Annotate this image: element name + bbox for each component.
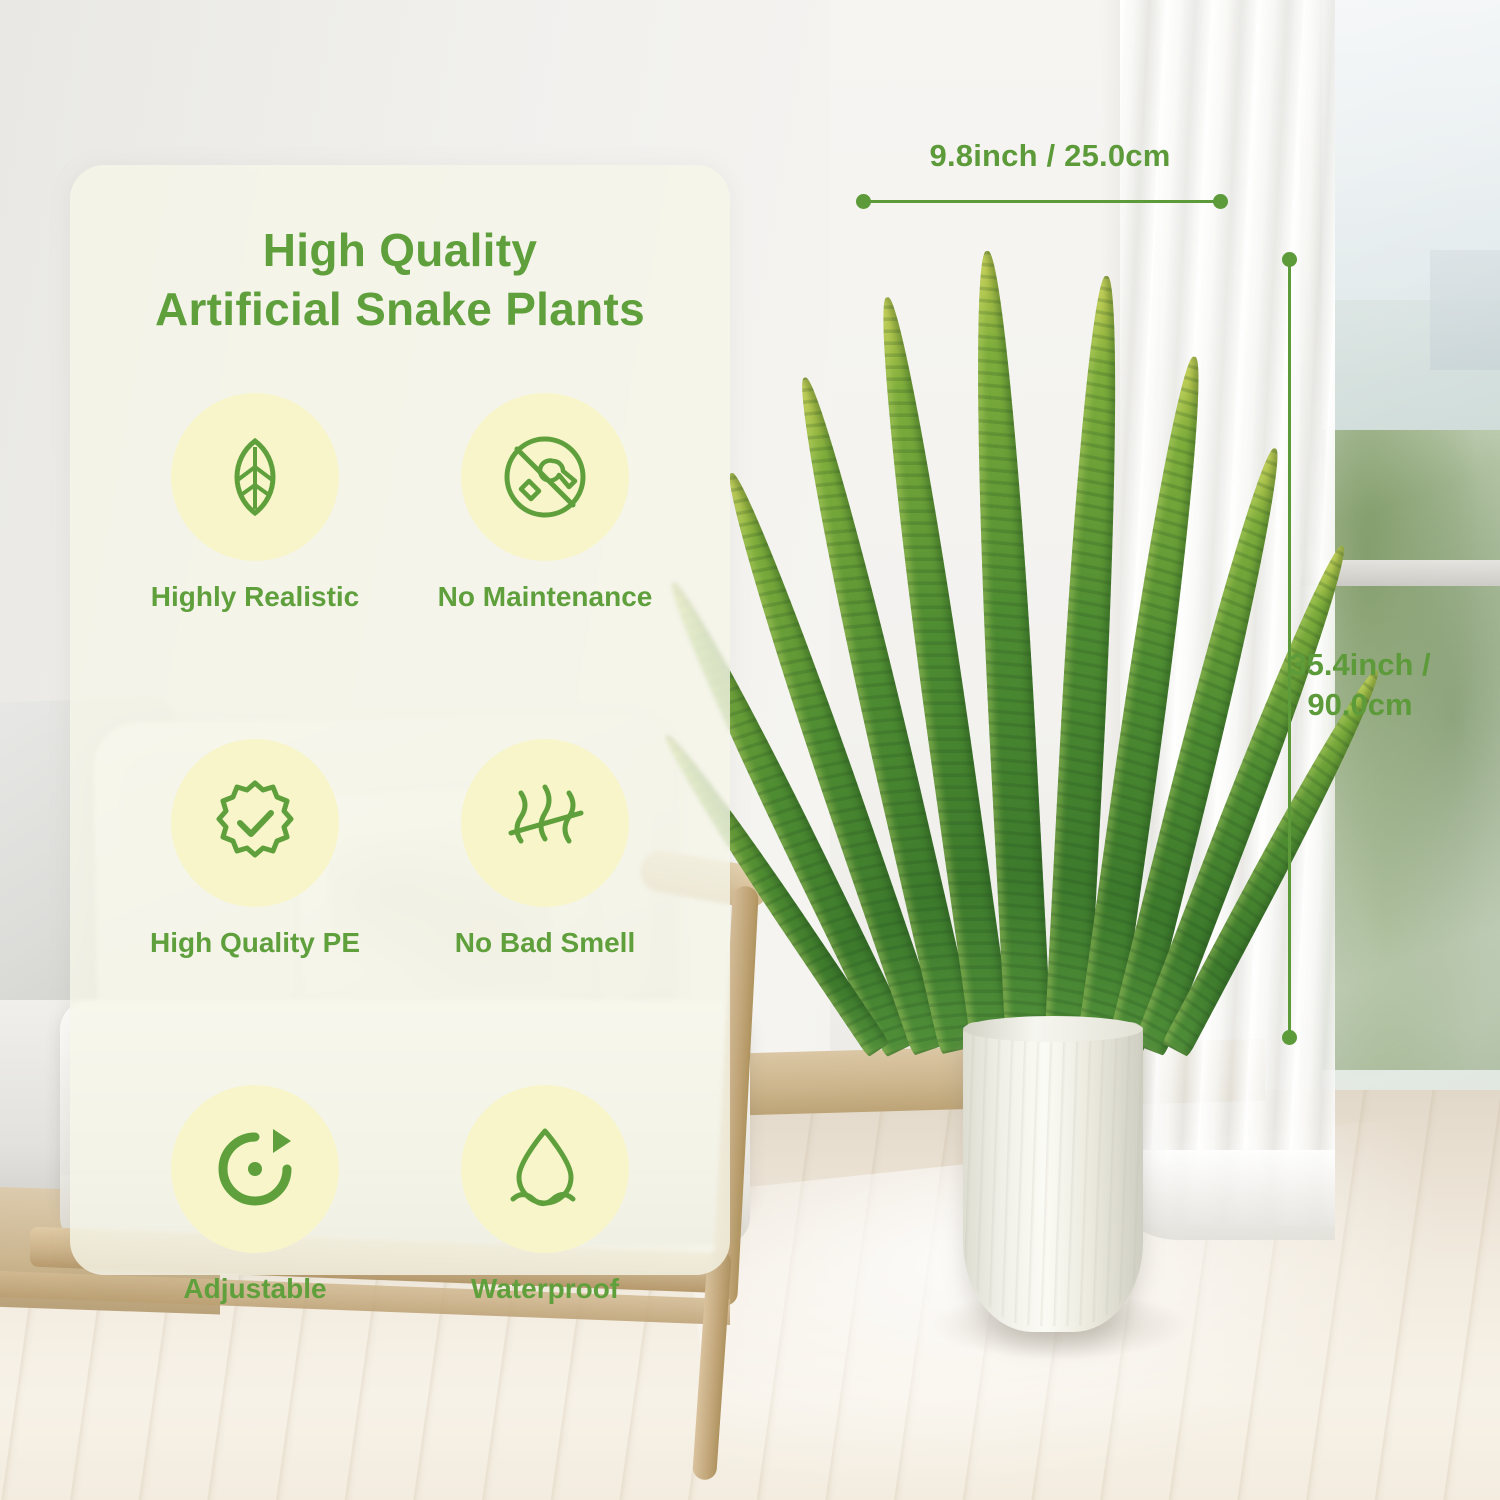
width-dimension-endpoint-right: [1213, 194, 1228, 209]
plant-pot-texture: [963, 1030, 1143, 1326]
feature-icon-circle: [171, 1085, 339, 1253]
curtain-hem: [1120, 1150, 1335, 1240]
card-title: High Quality Artificial Snake Plants: [70, 221, 730, 339]
feature-label: No Bad Smell: [455, 927, 635, 959]
feature-icon-circle: [461, 739, 629, 907]
height-dimension-label-line1: 35.4inch /: [1215, 645, 1500, 685]
adjustable-icon: [207, 1121, 303, 1217]
feature-no-bad-smell: No Bad Smell: [400, 739, 690, 959]
width-dimension-endpoint-left: [856, 194, 871, 209]
quality-badge-icon: [207, 775, 303, 871]
feature-label: No Maintenance: [438, 581, 653, 613]
leaf-icon: [209, 431, 301, 523]
window-glass-reflection: [1322, 0, 1500, 1260]
feature-icon-circle: [171, 739, 339, 907]
card-title-line1: High Quality: [70, 221, 730, 280]
feature-high-quality-pe: High Quality PE: [110, 739, 400, 959]
feature-icon-circle: [461, 1085, 629, 1253]
feature-grid: Highly Realistic No Maintenance: [110, 393, 690, 1305]
waterproof-icon: [497, 1121, 593, 1217]
width-dimension-line: [862, 200, 1222, 203]
feature-icon-circle: [171, 393, 339, 561]
feature-label: Adjustable: [183, 1273, 326, 1305]
height-dimension-label: 35.4inch / 90.0cm: [1215, 645, 1500, 724]
feature-highly-realistic: Highly Realistic: [110, 393, 400, 613]
feature-label: Highly Realistic: [151, 581, 360, 613]
no-maintenance-icon: [497, 429, 593, 525]
height-dimension-endpoint-top: [1282, 252, 1297, 267]
plant-pot-rim: [963, 1016, 1143, 1042]
feature-label: High Quality PE: [150, 927, 360, 959]
card-title-line2: Artificial Snake Plants: [70, 280, 730, 339]
feature-waterproof: Waterproof: [400, 1085, 690, 1305]
feature-label: Waterproof: [471, 1273, 619, 1305]
feature-icon-circle: [461, 393, 629, 561]
no-smell-icon: [495, 775, 595, 871]
snake-plant-leaves: [860, 230, 1220, 1050]
feature-no-maintenance: No Maintenance: [400, 393, 690, 613]
feature-card: High Quality Artificial Snake Plants Hig…: [70, 165, 730, 1275]
product-photo-stage: 9.8inch / 25.0cm 35.4inch / 90.0cm High …: [0, 0, 1500, 1500]
width-dimension-label: 9.8inch / 25.0cm: [840, 138, 1260, 174]
height-dimension-endpoint-bottom: [1282, 1030, 1297, 1045]
feature-adjustable: Adjustable: [110, 1085, 400, 1305]
height-dimension-label-line2: 90.0cm: [1215, 685, 1500, 725]
